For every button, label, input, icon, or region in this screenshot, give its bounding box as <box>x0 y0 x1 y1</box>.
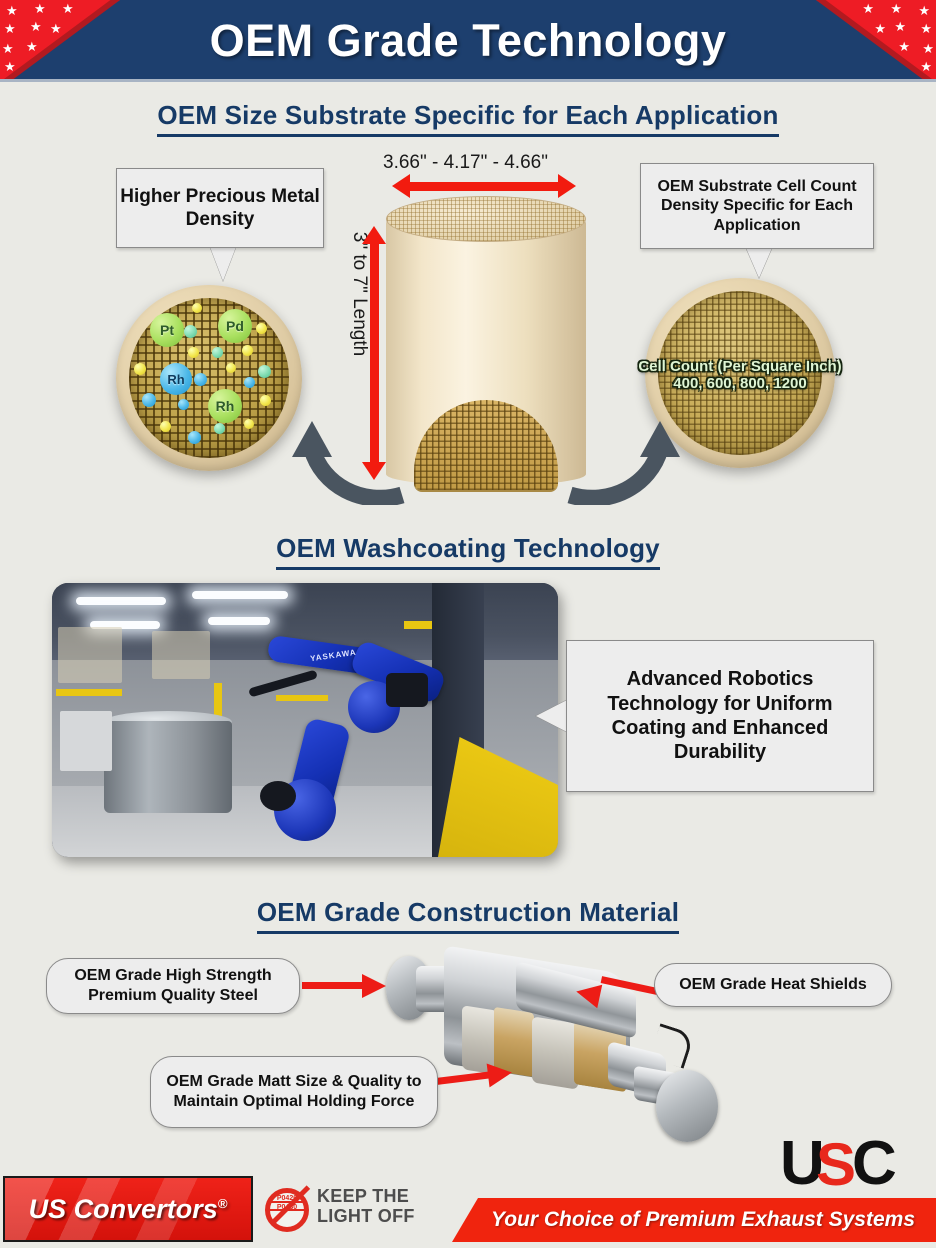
footer-tagline-text: Your Choice of Premium Exhaust Systems <box>491 1208 915 1232</box>
section-heading-washcoating-text: OEM Washcoating Technology <box>276 533 660 570</box>
callout-premium-steel: OEM Grade High Strength Premium Quality … <box>46 958 300 1014</box>
cylinder-cutaway <box>414 400 558 492</box>
substrate-cylinder <box>386 196 586 496</box>
robotics-photo: YASKAWA <box>52 583 558 857</box>
callout-matt-size: OEM Grade Matt Size & Quality to Maintai… <box>150 1056 438 1128</box>
keep-light-line-2: LIGHT OFF <box>317 1206 415 1226</box>
ceiling-light-icon <box>192 591 288 599</box>
matt-layer-rear <box>532 1016 578 1089</box>
control-panel <box>60 711 112 771</box>
outlet-flange <box>656 1070 718 1142</box>
cell-count-label: Cell Count (Per Square Inch) 400, 600, 8… <box>600 358 880 393</box>
metal-particle <box>214 423 225 434</box>
metal-particle <box>192 303 202 313</box>
ceiling-light-icon <box>76 597 166 605</box>
footer-tagline: Your Choice of Premium Exhaust Systems <box>452 1198 936 1242</box>
metal-particle <box>188 431 201 444</box>
safety-rail <box>276 695 328 701</box>
page-title: OEM Grade Technology <box>0 0 936 82</box>
metal-particle <box>244 419 254 429</box>
precious-metal-disc: Pt Pd Rh Rh <box>116 285 302 471</box>
metal-particle <box>134 363 146 375</box>
cell-count-values: 400, 600, 800, 1200 <box>600 375 880 392</box>
keep-the-light-off-badge: P0420 P0430 KEEP THE LIGHT OFF <box>265 1184 435 1236</box>
header-divider <box>0 79 936 82</box>
page-header: ★ ★ ★ ★ ★ ★ ★ ★ ★ ★ ★ ★ ★ ★ ★ ★ ★ ★ OEM … <box>0 0 936 82</box>
cylinder-honeycomb-top <box>386 196 586 242</box>
callout-cell-count-density: OEM Substrate Cell Count Density Specifi… <box>640 163 874 249</box>
metal-particle <box>244 377 255 388</box>
callout-precious-metal-text: Higher Precious Metal Density <box>117 185 323 231</box>
metal-bubble-pt: Pt <box>150 313 184 347</box>
metal-particle <box>242 345 253 356</box>
arrow-head-steel <box>362 974 386 998</box>
length-label: 3" to 7" Length <box>348 224 370 364</box>
arrow-head-heat <box>574 980 602 1008</box>
registered-mark: ® <box>218 1196 228 1211</box>
metal-bubble-rh-blue: Rh <box>160 363 192 395</box>
callout-heat-shields: OEM Grade Heat Shields <box>654 963 892 1007</box>
us-convertors-logo: US Convertors® <box>3 1176 253 1242</box>
metal-particle <box>160 421 171 432</box>
callout-cell-count-density-text: OEM Substrate Cell Count Density Specifi… <box>641 177 873 236</box>
curve-arrow-left <box>290 395 410 505</box>
robot-motor <box>260 781 296 811</box>
section-heading-construction: OEM Grade Construction Material <box>0 897 936 928</box>
callout-precious-metal: Higher Precious Metal Density <box>116 168 324 248</box>
metal-particle <box>178 399 189 410</box>
section-heading-substrate: OEM Size Substrate Specific for Each App… <box>0 100 936 131</box>
pallet-stack <box>152 631 210 679</box>
metal-particle <box>256 323 267 334</box>
metal-particle <box>212 347 223 358</box>
arrow-head-matt <box>487 1061 514 1088</box>
callout-advanced-robotics-text: Advanced Robotics Technology for Uniform… <box>581 667 859 765</box>
page-footer: US Convertors® P0420 P0430 KEEP THE LIGH… <box>0 1170 936 1248</box>
section-heading-washcoating: OEM Washcoating Technology <box>0 533 936 564</box>
callout-matt-size-text: OEM Grade Matt Size & Quality to Maintai… <box>151 1072 437 1111</box>
callout-advanced-robotics-tail <box>536 700 567 732</box>
diameter-arrow <box>409 182 559 191</box>
cell-count-title: Cell Count (Per Square Inch) <box>600 358 880 375</box>
keep-light-off-text: KEEP THE LIGHT OFF <box>317 1186 415 1226</box>
metal-particle <box>188 347 199 358</box>
curve-arrow-right <box>562 395 682 505</box>
coating-tank <box>104 721 232 813</box>
robot-wrist <box>386 673 428 707</box>
metal-particle <box>194 373 207 386</box>
arrow-line-steel <box>302 982 364 989</box>
callout-precious-metal-tail <box>210 247 236 281</box>
keep-light-line-1: KEEP THE <box>317 1186 415 1206</box>
pallet-stack <box>58 627 122 683</box>
diameter-label: 3.66" - 4.17" - 4.66" <box>383 152 548 174</box>
ceiling-light-icon <box>208 617 270 625</box>
callout-premium-steel-text: OEM Grade High Strength Premium Quality … <box>47 966 299 1005</box>
callout-heat-shields-text: OEM Grade Heat Shields <box>679 975 867 995</box>
metal-particle <box>226 363 236 373</box>
metal-particle <box>260 395 271 406</box>
metal-particle <box>142 393 156 407</box>
cutaway-honeycomb <box>414 400 558 490</box>
section-heading-construction-text: OEM Grade Construction Material <box>257 897 679 934</box>
callout-advanced-robotics: Advanced Robotics Technology for Uniform… <box>566 640 874 792</box>
safety-rail <box>56 689 122 696</box>
brand-name: US Convertors <box>29 1194 218 1224</box>
metal-bubble-rh-green: Rh <box>208 389 242 423</box>
metal-particle <box>184 325 197 338</box>
callout-cell-count-tail <box>746 248 772 278</box>
metal-particle <box>258 365 271 378</box>
metal-bubble-pd: Pd <box>218 309 252 343</box>
us-convertors-logo-text: US Convertors® <box>29 1194 228 1225</box>
section-heading-substrate-text: OEM Size Substrate Specific for Each App… <box>157 100 778 137</box>
